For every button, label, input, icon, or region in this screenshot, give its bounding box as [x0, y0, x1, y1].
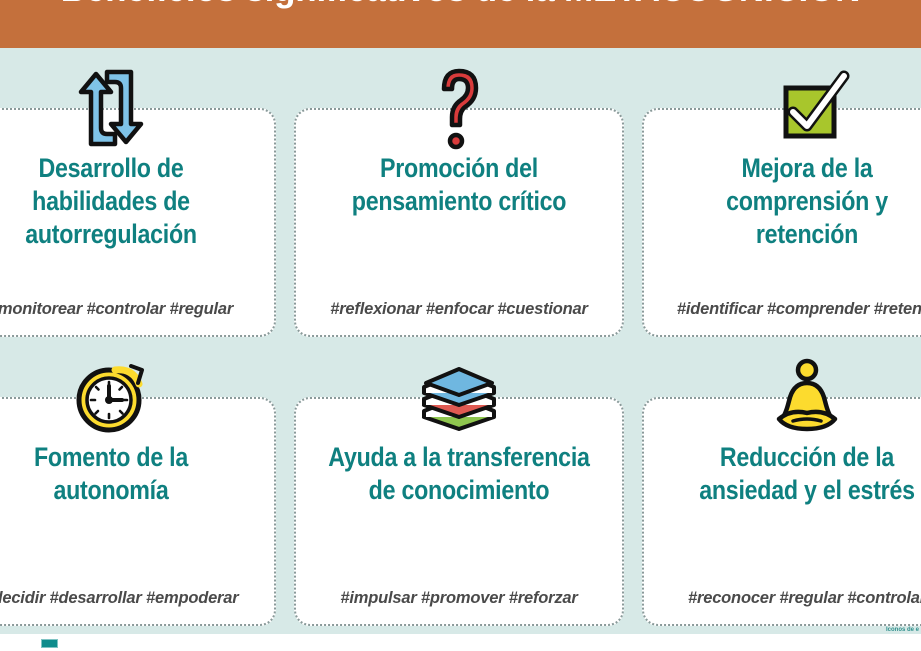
benefit-card-comprension-retencion[interactable]: Mejora de la comprensión y retención #id…: [642, 108, 921, 337]
benefit-card-pensamiento-critico[interactable]: Promoción del pensamiento crítico #refle…: [294, 108, 624, 337]
card-title: Reducción de la ansiedad y el estrés: [675, 441, 921, 507]
card-title: Fomento de la autonomía: [0, 441, 243, 507]
header-band: Beneficios significativos de la METACOGN…: [0, 0, 921, 48]
card-tags: #decidir #desarrollar #empoderar: [0, 589, 274, 608]
bottom-strip: [0, 634, 921, 651]
card-title: Desarrollo de habilidades de autorregula…: [0, 152, 243, 251]
infographic-poster: Desarrollo de habilidades de autorregula…: [0, 0, 921, 651]
card-title: Ayuda a la transferencia de conocimiento: [327, 441, 590, 507]
icon-attribution: Iconos de e: [886, 627, 919, 633]
card-tags: #reconocer #regular #controlar: [644, 589, 921, 608]
benefit-card-ansiedad-estres[interactable]: Reducción de la ansiedad y el estrés #re…: [642, 397, 921, 626]
card-title: Mejora de la comprensión y retención: [675, 152, 921, 251]
benefit-card-autonomia[interactable]: Fomento de la autonomía #decidir #desarr…: [0, 397, 276, 626]
bottom-left-mark: [41, 639, 58, 648]
card-tags: #monitorear #controlar #regular: [0, 300, 274, 319]
card-tags: #reflexionar #enfocar #cuestionar: [296, 300, 622, 319]
benefits-grid: Desarrollo de habilidades de autorregula…: [0, 48, 921, 634]
benefit-card-transferencia-conocimiento[interactable]: Ayuda a la transferencia de conocimiento…: [294, 397, 624, 626]
benefit-card-autorregulacion[interactable]: Desarrollo de habilidades de autorregula…: [0, 108, 276, 337]
card-tags: #identificar #comprender #retener: [644, 300, 921, 319]
page-title: Beneficios significativos de la METACOGN…: [0, 0, 921, 12]
card-tags: #impulsar #promover #reforzar: [296, 589, 622, 608]
card-title: Promoción del pensamiento crítico: [327, 152, 590, 218]
